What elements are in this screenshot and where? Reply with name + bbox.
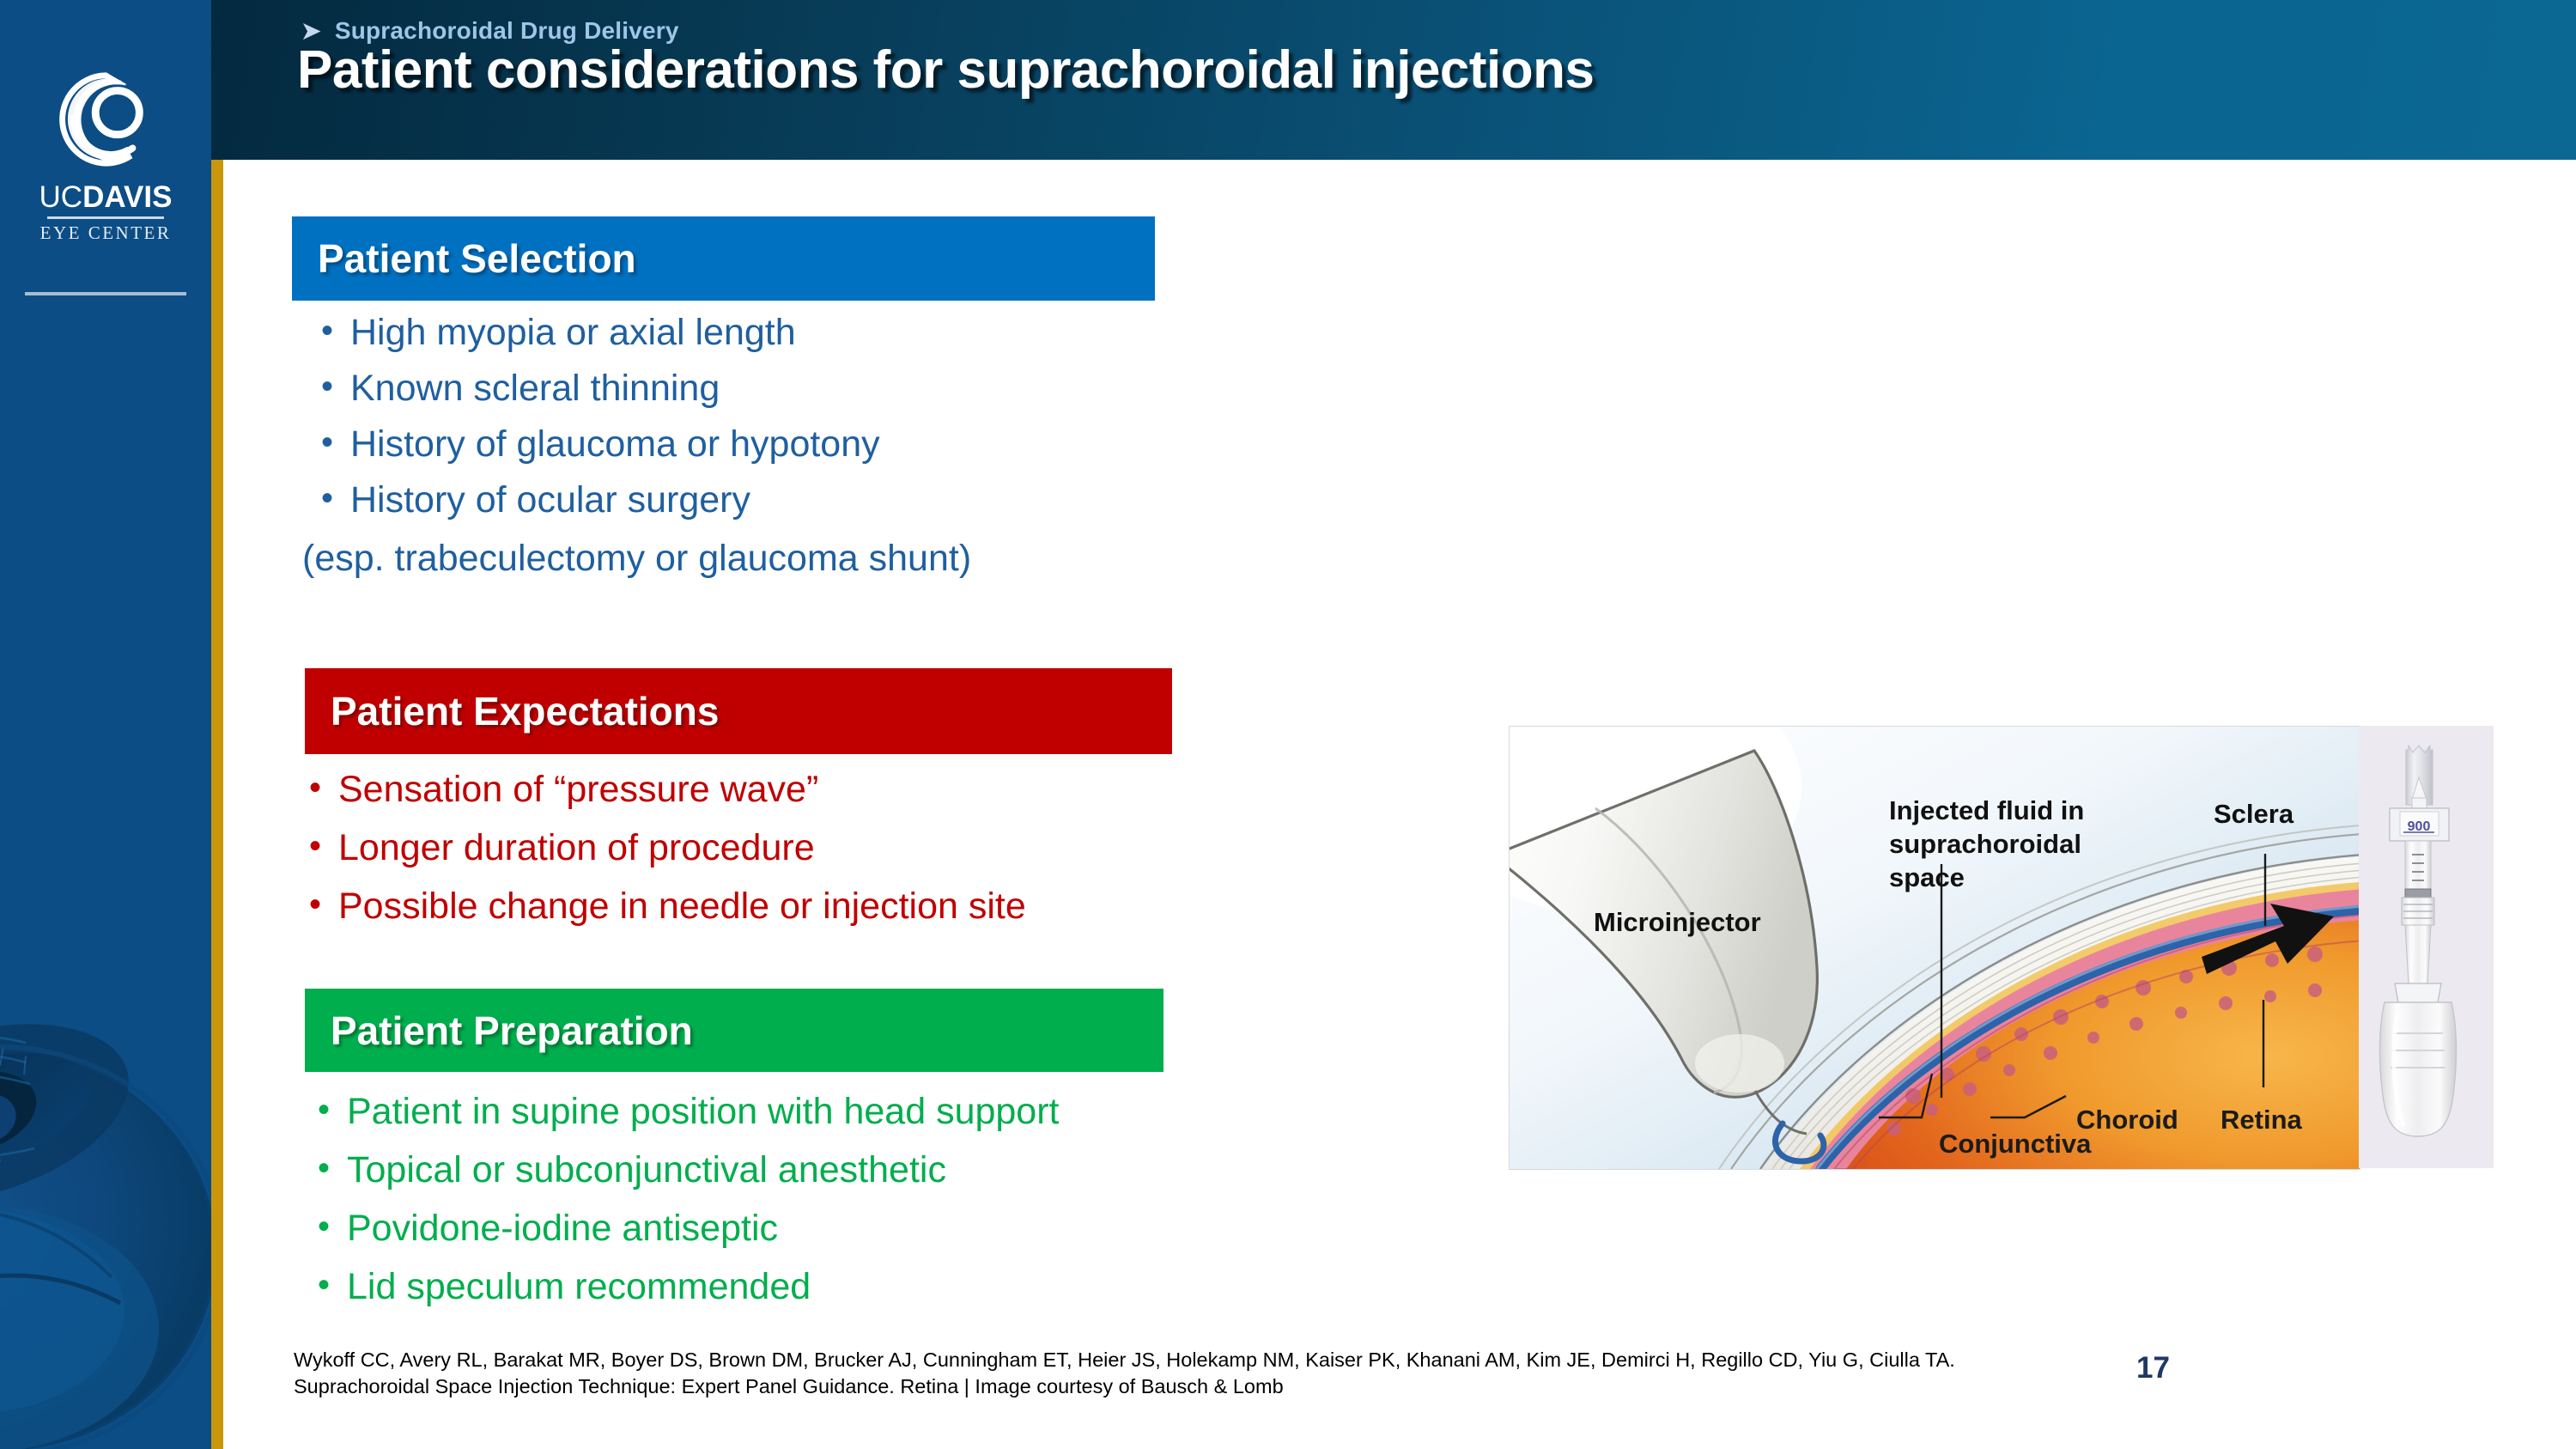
list-item: •Sensation of “pressure wave”	[297, 771, 1026, 808]
citation-text: Wykoff CC, Avery RL, Barakat MR, Boyer D…	[294, 1347, 2071, 1400]
list-item-label: Longer duration of procedure	[338, 830, 815, 867]
figure-label-conjunctiva: Conjunctiva	[1939, 1129, 2092, 1159]
logo-uc: UC	[39, 180, 83, 214]
section-heading-patient-selection: Patient Selection	[292, 216, 1155, 301]
slide-header: ➤Suprachoroidal Drug Delivery Patient co…	[211, 0, 2576, 160]
eye-anatomy-watermark	[0, 968, 211, 1449]
list-item-label: History of ocular surgery	[350, 482, 750, 519]
suprachoroidal-injection-figure: Injected fluid in suprachoroidal space S…	[1509, 726, 2360, 1170]
page-number: 17	[2136, 1351, 2170, 1385]
list-item-label: Patient in supine position with head sup…	[347, 1093, 1060, 1130]
bullet-dot-icon: •	[302, 1152, 347, 1184]
list-item-label: Povidone-iodine antiseptic	[347, 1210, 778, 1247]
bullet-dot-icon: •	[302, 482, 350, 514]
bullet-dot-icon: •	[297, 888, 338, 921]
logo-eye-center: EYE CENTER	[0, 222, 211, 244]
patient-selection-note: (esp. trabeculectomy or glaucoma shunt)	[302, 538, 971, 580]
left-sidebar: UCDAVIS EYE CENTER	[0, 0, 211, 1449]
figure-label-choroid: Choroid	[2076, 1105, 2178, 1135]
uc-davis-eye-center-logo: UCDAVIS EYE CENTER	[0, 69, 211, 295]
list-item: •Lid speculum recommended	[302, 1269, 1060, 1306]
figure-label-microinjector: Microinjector	[1594, 907, 1761, 937]
figure-label-injected-fluid-line3: space	[1889, 862, 1965, 892]
list-item-label: Sensation of “pressure wave”	[338, 771, 818, 808]
list-item: •History of glaucoma or hypotony	[302, 426, 971, 463]
logo-divider	[47, 216, 164, 219]
list-item: •Topical or subconjunctival anesthetic	[302, 1152, 1060, 1189]
citation-line-1: Wykoff CC, Avery RL, Barakat MR, Boyer D…	[294, 1349, 1920, 1371]
bullet-dot-icon: •	[297, 830, 338, 862]
bullet-list-patient-preparation: •Patient in supine position with head su…	[302, 1093, 1060, 1327]
list-item-label: Lid speculum recommended	[347, 1269, 811, 1306]
figure-label-sclera: Sclera	[2214, 799, 2294, 829]
list-item: •Povidone-iodine antiseptic	[302, 1210, 1060, 1247]
list-item-label: Known scleral thinning	[350, 370, 720, 407]
bullet-dot-icon: •	[302, 314, 350, 347]
uc-davis-swoosh-icon	[55, 69, 156, 170]
bullet-dot-icon: •	[302, 1210, 347, 1243]
section-heading-patient-preparation: Patient Preparation	[305, 989, 1163, 1072]
slide-content: Patient Selection •High myopia or axial …	[223, 160, 2576, 1449]
list-item: •Longer duration of procedure	[297, 830, 1026, 867]
bullet-dot-icon: •	[297, 771, 338, 804]
logo-davis: DAVIS	[82, 180, 172, 214]
logo-underline	[25, 292, 186, 295]
figure-label-injected-fluid-line1: Injected fluid in	[1889, 795, 2084, 825]
logo-wordmark: UCDAVIS	[0, 182, 211, 212]
figure-label-injected-fluid-line2: suprachoroidal	[1889, 829, 2081, 859]
list-item: •Known scleral thinning	[302, 370, 971, 407]
bullet-dot-icon: •	[302, 1269, 347, 1301]
list-item: •High myopia or axial length	[302, 314, 971, 351]
bullet-dot-icon: •	[302, 426, 350, 459]
list-item-label: Topical or subconjunctival anesthetic	[347, 1152, 946, 1189]
list-item: •Possible change in needle or injection …	[297, 888, 1026, 925]
list-item-label: Possible change in needle or injection s…	[338, 888, 1026, 925]
figure-label-retina: Retina	[2221, 1105, 2303, 1135]
section-heading-patient-expectations: Patient Expectations	[305, 668, 1172, 754]
bullet-dot-icon: •	[302, 1093, 347, 1126]
gold-accent-stripe	[211, 155, 223, 1449]
bullet-dot-icon: •	[302, 370, 350, 403]
list-item: •History of ocular surgery	[302, 482, 971, 519]
list-item: •Patient in supine position with head su…	[302, 1093, 1060, 1130]
bullet-list-patient-selection: •High myopia or axial length •Known scle…	[302, 314, 971, 580]
list-item-label: High myopia or axial length	[350, 314, 796, 351]
bullet-list-patient-expectations: •Sensation of “pressure wave” •Longer du…	[297, 771, 1026, 947]
microinjector-device-figure: 900	[2359, 726, 2494, 1168]
page-title: Patient considerations for suprachoroida…	[297, 40, 1595, 100]
list-item-label: History of glaucoma or hypotony	[350, 426, 880, 463]
